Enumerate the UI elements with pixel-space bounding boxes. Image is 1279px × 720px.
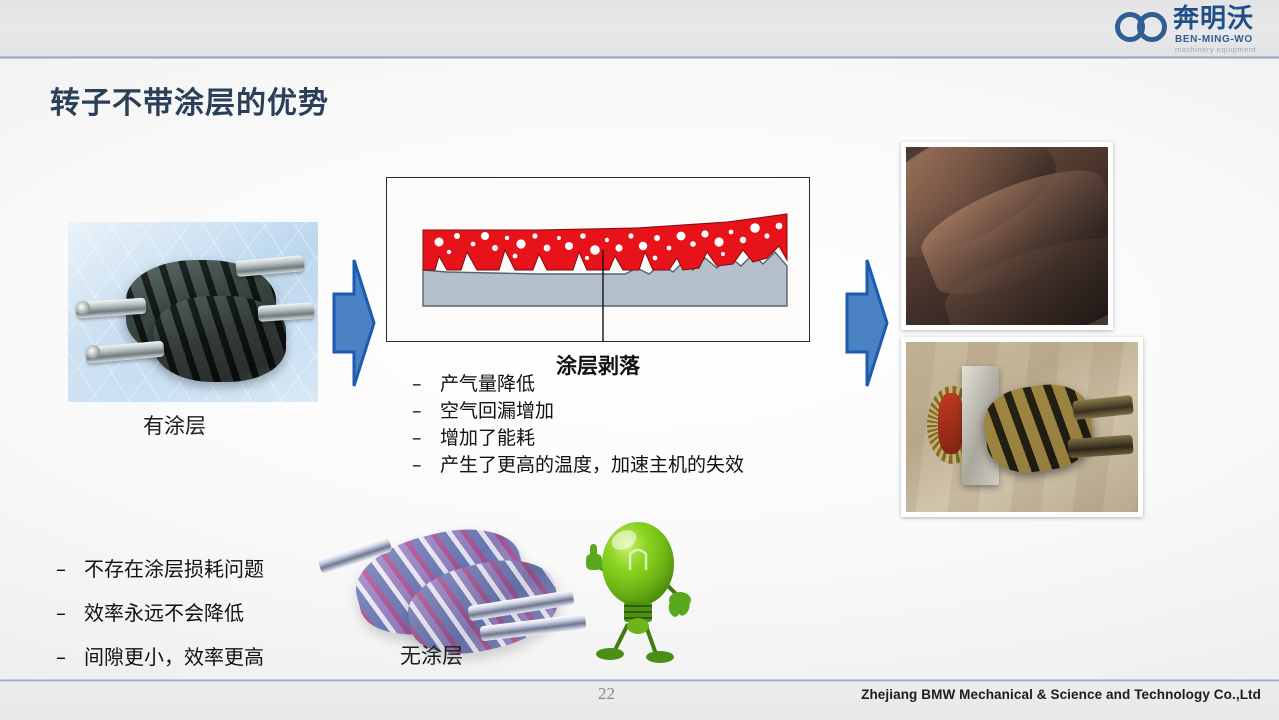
lightbulb-mascot-icon (580, 512, 692, 664)
list-item-label: 效率永远不会降低 (84, 592, 244, 634)
coated-caption: 有涂层 (143, 410, 206, 440)
list-item-label: 间隙更小，效率更高 (84, 636, 264, 678)
list-item-label: 产气量降低 (440, 372, 535, 397)
list-item: – 产生了更高的温度，加速主机的失效 (412, 453, 832, 478)
arrow-right-icon (843, 258, 889, 388)
bullet-marker: – (412, 426, 426, 451)
bullet-marker: – (56, 636, 70, 678)
page-number: 22 (598, 684, 615, 704)
bullet-marker: – (412, 372, 426, 397)
list-item-label: 不存在涂层损耗问题 (84, 548, 264, 590)
header-divider (0, 56, 1279, 59)
coating-cross-section-diagram (386, 177, 810, 342)
rotor-assembly-photo (901, 337, 1143, 517)
bullet-marker: – (56, 592, 70, 634)
list-item: – 空气回漏增加 (412, 399, 832, 424)
page-title: 转子不带涂层的优势 (50, 78, 329, 122)
bullet-marker: – (412, 399, 426, 424)
bullet-marker: – (412, 453, 426, 478)
slide: 奔明沃 BEN-MING-WO machinery equipment 转子不带… (0, 0, 1279, 720)
list-item-label: 空气回漏增加 (440, 399, 554, 424)
arrow-right-icon (330, 258, 376, 388)
list-item: – 增加了能耗 (412, 426, 832, 451)
list-item-label: 产生了更高的温度，加速主机的失效 (440, 453, 744, 478)
center-bullet-list: – 产气量降低 – 空气回漏增加 – 增加了能耗 – 产生了更高的温度，加速主机… (412, 372, 832, 480)
coated-rotor-photo (68, 222, 318, 402)
list-item-label: 增加了能耗 (440, 426, 535, 451)
bullet-marker: – (56, 548, 70, 590)
uncoated-rotor-graphic (312, 512, 692, 672)
worn-rotor-photo (901, 142, 1113, 330)
uncoated-caption: 无涂层 (400, 640, 463, 670)
bo-rings-logo-icon (1115, 10, 1175, 44)
slide-header (0, 0, 1279, 58)
company-logo: 奔明沃 BEN-MING-WO machinery equipment (1115, 6, 1265, 54)
list-item: – 产气量降低 (412, 372, 832, 397)
logo-english-name: BEN-MING-WO (1175, 34, 1253, 45)
logo-tagline: machinery equipment (1175, 45, 1256, 54)
logo-chinese-name: 奔明沃 (1173, 6, 1254, 33)
company-name: Zhejiang BMW Mechanical & Science and Te… (861, 687, 1261, 702)
